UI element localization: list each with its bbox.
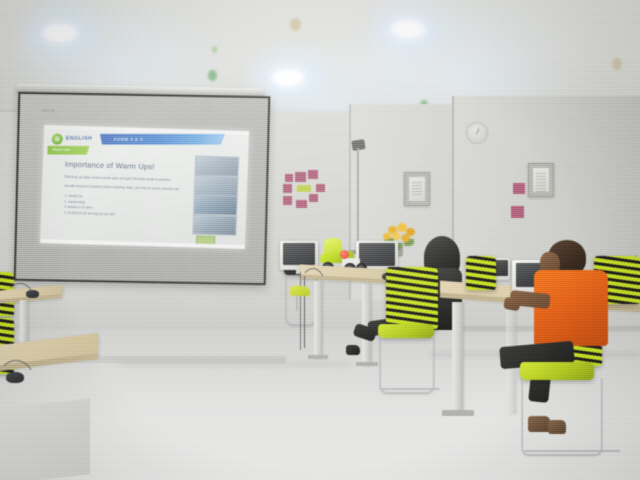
chair-student-1-back bbox=[386, 267, 438, 329]
slide-subject-label: ENGLISH bbox=[66, 136, 93, 142]
speaker-pole bbox=[357, 148, 359, 252]
slide-section-tag: Warm Ups bbox=[47, 146, 89, 155]
flower-bloom bbox=[383, 233, 391, 240]
chair-student-1-rail bbox=[380, 388, 440, 390]
sticky-note bbox=[296, 200, 307, 208]
sticky-note bbox=[308, 170, 318, 179]
desk-lamp-shade bbox=[290, 286, 310, 296]
slide-photo-2 bbox=[194, 175, 239, 196]
wall-frame-right-lines bbox=[536, 173, 546, 194]
downlight-right bbox=[386, 18, 430, 40]
flower-bloom bbox=[392, 232, 400, 240]
slide-form-label: FORM 4 & 5 bbox=[114, 136, 144, 141]
slide-photo-1 bbox=[194, 156, 239, 177]
projected-slide: ENGLISH FORM 4 & 5 Warm Ups Importance o… bbox=[40, 125, 249, 249]
slide-photo-3 bbox=[193, 195, 238, 216]
desk-center-foot-left bbox=[308, 355, 328, 359]
slide-paragraph-2: Usually everyone practice before enterin… bbox=[64, 184, 179, 191]
sticky-note bbox=[316, 184, 325, 192]
slide-photo-column bbox=[192, 156, 237, 235]
downlight-center bbox=[268, 68, 308, 88]
chair-spare-center-back bbox=[466, 256, 496, 290]
chair-student-1-frame bbox=[380, 336, 434, 393]
slide-paragraph-1: Warming up helps avoid muscle pain and g… bbox=[64, 175, 171, 182]
downlight-center-core bbox=[277, 74, 299, 82]
desk-center-foot-right bbox=[356, 362, 378, 366]
slide-title: Importance of Warm Ups! bbox=[65, 160, 155, 172]
chair-student-2-rail bbox=[524, 450, 620, 452]
wall-frame-left-lines bbox=[412, 182, 422, 197]
floor-joint-1 bbox=[120, 362, 350, 366]
wall-frame-right bbox=[528, 163, 554, 197]
slide-logo-icon bbox=[52, 134, 63, 145]
wall-clock bbox=[466, 122, 488, 144]
wall-frame-right-inner bbox=[533, 168, 549, 192]
sticky-note bbox=[285, 174, 293, 182]
slide-section-tag-label: Warm Ups bbox=[52, 148, 70, 152]
flower-bloom bbox=[401, 234, 410, 242]
slide-list-item-4: 4. DOOOOO for as long as you can! bbox=[64, 210, 115, 216]
classroom-photo: Warning ENGLISH FORM 4 & 5 Warm Ups Impo… bbox=[0, 0, 640, 480]
wall-frame-left bbox=[404, 172, 430, 206]
wall-frame-left-inner bbox=[409, 177, 425, 201]
slide-photo-4 bbox=[192, 214, 237, 235]
sticky-note-right-upper bbox=[513, 183, 525, 194]
toy-car-cab bbox=[324, 238, 342, 253]
sticky-note bbox=[283, 184, 292, 193]
desk-front-left-panel bbox=[0, 398, 90, 480]
sticky-note bbox=[295, 172, 306, 182]
slide-list-item-1: 1. Hands Up bbox=[65, 194, 83, 199]
downlight-left bbox=[38, 22, 82, 44]
desk-mid-left-leg bbox=[20, 300, 28, 344]
monitor-center-screen bbox=[359, 243, 394, 266]
projector-screen[interactable]: Warning ENGLISH FORM 4 & 5 Warm Ups Impo… bbox=[14, 86, 264, 286]
desk-center-leg-left bbox=[314, 281, 322, 359]
sticky-note-right-lower bbox=[511, 206, 524, 218]
desk-right-leg-left bbox=[452, 302, 463, 414]
ceiling-dot-green-3 bbox=[212, 46, 217, 53]
sticky-note-center bbox=[297, 185, 311, 192]
student-2-hand bbox=[503, 297, 521, 312]
slide-header: ENGLISH FORM 4 & 5 bbox=[47, 133, 224, 147]
chair-student-2-frame bbox=[522, 378, 602, 455]
monitor-left-rear-screen bbox=[283, 243, 315, 265]
student-1-shoe bbox=[346, 345, 360, 355]
desk-lamp-stem bbox=[296, 295, 298, 311]
ceiling-dot-tan-1 bbox=[290, 18, 301, 31]
slide-list-item-2: 2. Hands Wide bbox=[64, 199, 85, 204]
ceiling-dot-green-1 bbox=[208, 70, 217, 81]
toy-car-light bbox=[340, 250, 349, 259]
sticky-note bbox=[283, 196, 292, 205]
chair-student-1[interactable] bbox=[386, 267, 438, 329]
cable-drop-center bbox=[300, 272, 301, 350]
screen-corner-label: Warning bbox=[42, 108, 55, 112]
slide-list-item-3: 3. Breath in 10 secs bbox=[64, 205, 92, 210]
chair-spare-center[interactable] bbox=[466, 256, 496, 290]
ceiling-dot-tan-2 bbox=[612, 58, 622, 70]
screen-surface: Warning ENGLISH FORM 4 & 5 Warm Ups Impo… bbox=[14, 92, 271, 285]
sticky-note bbox=[309, 194, 318, 202]
desk-right-foot bbox=[442, 410, 474, 416]
